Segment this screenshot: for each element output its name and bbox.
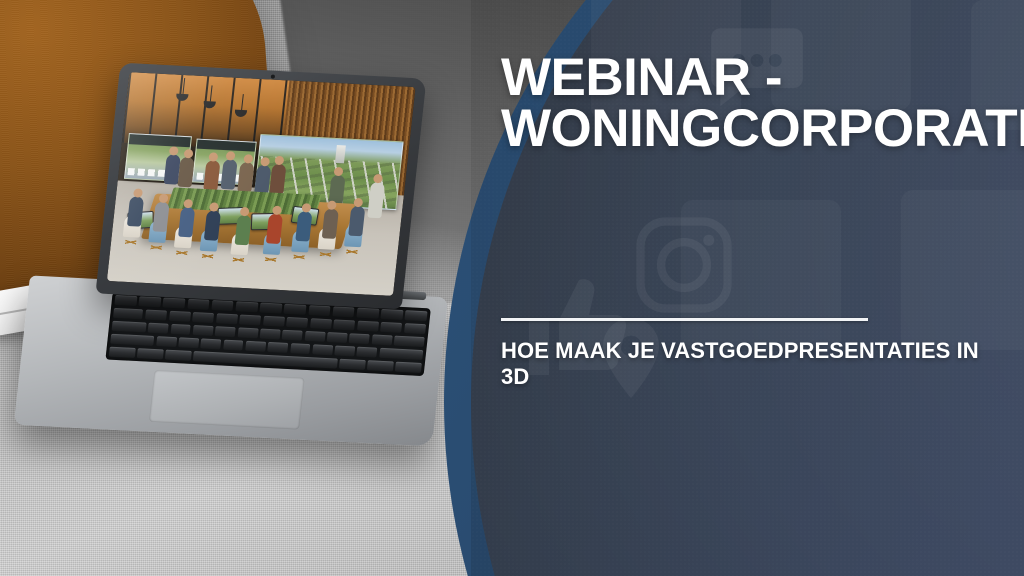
title-divider	[501, 318, 868, 321]
laptop	[22, 70, 442, 430]
page-title: WEBINAR - WONINGCORPORATIES	[501, 52, 1001, 155]
laptop-lid	[95, 63, 426, 310]
headline-block: WEBINAR - WONINGCORPORATIES	[501, 52, 1001, 155]
laptop-trackpad	[149, 370, 305, 430]
person	[220, 159, 237, 190]
slide-canvas: WEBINAR - WONINGCORPORATIES HOE MAAK JE …	[0, 0, 1024, 576]
person	[178, 157, 195, 188]
laptop-screen	[107, 72, 416, 296]
webcam-icon	[271, 75, 275, 79]
screen-scene	[107, 72, 416, 296]
page-subtitle: HOE MAAK JE VASTGOEDPRESENTATIES IN 3D	[501, 338, 1011, 390]
